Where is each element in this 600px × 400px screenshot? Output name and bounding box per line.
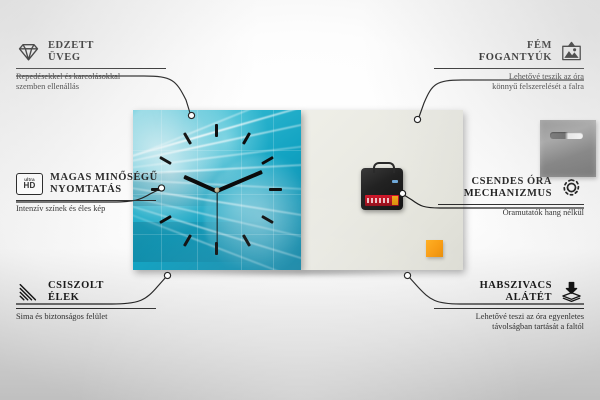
hour-tick <box>215 124 218 137</box>
ultra-hd-icon: ultra HD <box>16 173 43 195</box>
hanger-slot <box>550 132 583 139</box>
foam-pad <box>426 240 443 257</box>
clock-mechanism <box>361 168 403 210</box>
callout-title: HABSZIVACS ALÁTÉT <box>480 280 552 304</box>
callout-divider <box>438 204 584 205</box>
callout-description: Lehetővé teszi az óra egyenletes távolsá… <box>424 312 584 332</box>
callout-divider <box>16 200 156 201</box>
callout-silent-mechanism[interactable]: CSENDES ÓRA MECHANIZMUS Óramutatók hang … <box>438 176 584 218</box>
diamond-icon <box>16 41 41 63</box>
metal-hanger <box>540 120 596 177</box>
callout-title: MAGAS MINŐSÉGŰ NYOMTATÁS <box>50 172 158 196</box>
callout-divider <box>16 308 156 309</box>
callout-foam-pad[interactable]: HABSZIVACS ALÁTÉT Lehetővé teszi az óra … <box>424 280 584 332</box>
battery-label <box>367 198 391 203</box>
callout-title: CSENDES ÓRA MECHANIZMUS <box>464 176 552 200</box>
picture-frame-icon <box>559 41 584 63</box>
callout-title: CSISZOLT ÉLEK <box>48 280 104 304</box>
clock-hub <box>215 188 220 193</box>
foam-pad-arrow-icon <box>559 281 584 303</box>
callout-divider <box>434 68 584 69</box>
mechanism-loop <box>373 162 395 173</box>
callout-metal-handles[interactable]: FÉM FOGANTYÚK Lehetővé teszik az óra kön… <box>424 40 584 92</box>
product-feature-infographic: EDZETT ÜVEG Repedésekkel és karcolásokka… <box>0 0 600 400</box>
callout-description: Intenzív színek és éles kép <box>16 204 186 214</box>
callout-title: FÉM FOGANTYÚK <box>479 40 552 64</box>
callout-title: EDZETT ÜVEG <box>48 40 94 64</box>
polished-edge-icon <box>16 281 41 303</box>
battery <box>365 195 399 206</box>
callout-description: Sima és biztonságos felület <box>16 312 176 322</box>
callout-description: Óramutatók hang nélkül <box>438 208 584 218</box>
callout-description: Repedésekkel és karcolásokkal szemben el… <box>16 72 176 92</box>
callout-high-quality-print[interactable]: ultra HD MAGAS MINŐSÉGŰ NYOMTATÁS Intenz… <box>16 172 186 214</box>
callout-polished-edges[interactable]: CSISZOLT ÉLEK Sima és biztonságos felüle… <box>16 280 176 322</box>
callout-divider <box>434 308 584 309</box>
callout-divider <box>16 68 166 69</box>
mechanism-marking <box>392 180 398 183</box>
hour-tick <box>269 188 282 191</box>
second-hand <box>216 190 217 245</box>
gear-icon <box>559 177 584 199</box>
callout-tempered-glass[interactable]: EDZETT ÜVEG Repedésekkel és karcolásokka… <box>16 40 176 92</box>
callout-description: Lehetővé teszik az óra könnyű felszerelé… <box>424 72 584 92</box>
